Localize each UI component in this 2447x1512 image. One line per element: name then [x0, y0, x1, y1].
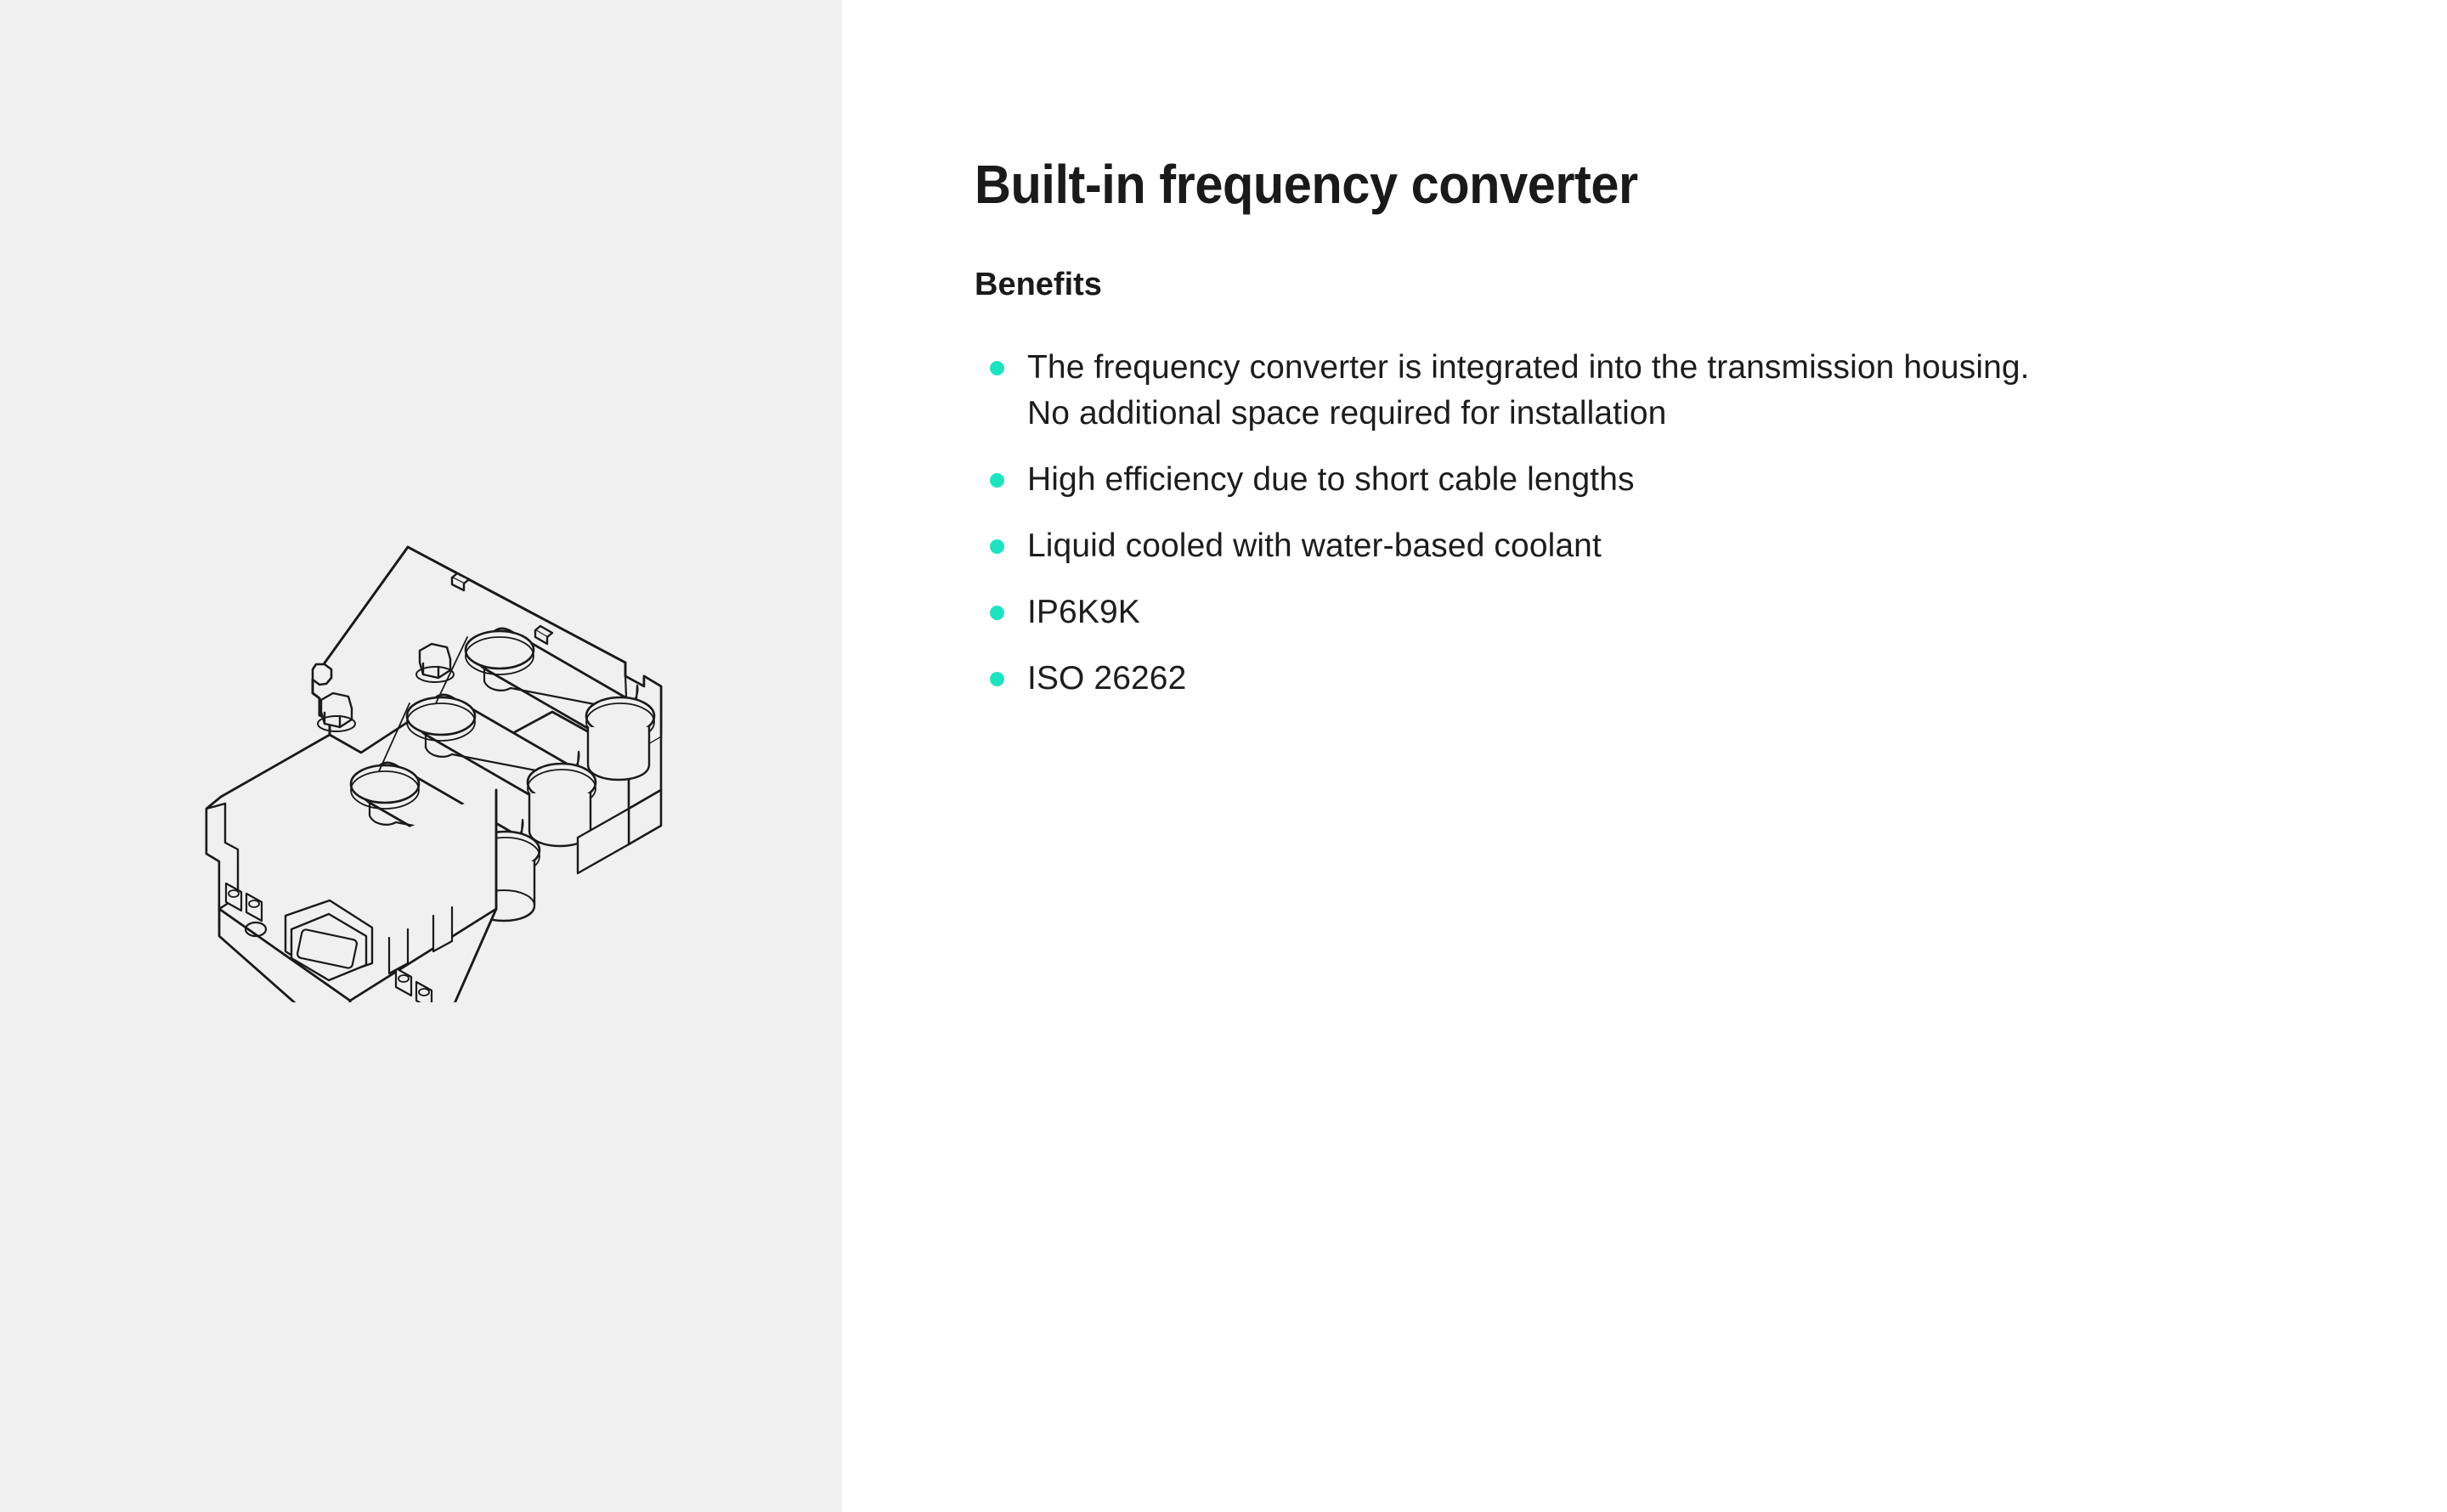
bullet-dot-icon — [990, 539, 1004, 554]
terminal-post-right-upper — [588, 727, 649, 780]
list-item: IP6K9K — [975, 590, 2300, 635]
list-item-label: ISO 26262 — [1027, 656, 2300, 702]
list-item: The frequency converter is integrated in… — [975, 345, 2300, 437]
list-item-label: High efficiency due to short cable lengt… — [1027, 457, 2300, 503]
product-info-slide: Built-in frequency converter Benefits Th… — [0, 0, 2447, 1512]
benefits-heading: Benefits — [975, 265, 1102, 304]
product-image-panel — [0, 0, 842, 1512]
list-item: ISO 26262 — [975, 656, 2300, 702]
content-panel: Built-in frequency converter Benefits Th… — [842, 0, 2447, 1512]
list-item: Liquid cooled with water-based coolant — [975, 523, 2300, 569]
bullet-dot-icon — [990, 672, 1004, 686]
list-item: High efficiency due to short cable lengt… — [975, 457, 2300, 503]
frequency-converter-illustration — [153, 510, 714, 1002]
list-item-label: Liquid cooled with water-based coolant — [1027, 523, 2300, 569]
bullet-dot-icon — [990, 361, 1004, 375]
benefits-list: The frequency converter is integrated in… — [975, 345, 2300, 722]
page-title: Built-in frequency converter — [975, 154, 1638, 215]
bullet-dot-icon — [990, 606, 1004, 620]
list-item-label: IP6K9K — [1027, 590, 2300, 635]
list-item-label: The frequency converter is integrated in… — [1027, 345, 2300, 437]
bullet-dot-icon — [990, 473, 1004, 488]
